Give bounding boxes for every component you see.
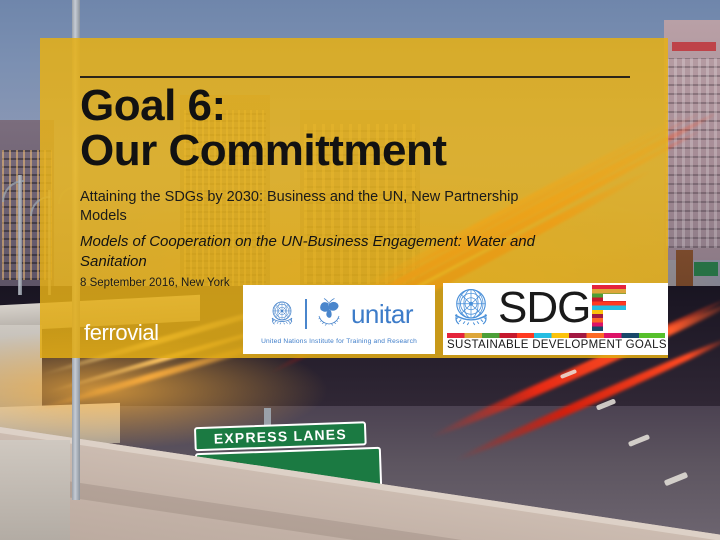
sdg-fund-logo: SDG SUSTAINABLE DEVELOPMENT GOALS FUND xyxy=(443,283,668,355)
title-divider-rule xyxy=(80,76,630,78)
subtitle: Attaining the SDGs by 2030: Business and… xyxy=(80,188,550,227)
slide-canvas: EXPRESS LANES 75 Coit E Goal 6: Our Comm… xyxy=(0,0,720,540)
sdg-fund-tagline: SUSTAINABLE DEVELOPMENT GOALS FUND xyxy=(447,339,668,351)
sdg-colour-bar xyxy=(447,333,665,338)
unitar-logo-row: unitar xyxy=(265,295,413,334)
unitar-logo: unitar United Nations Institute for Trai… xyxy=(243,285,435,354)
subtitle-italic: Models of Cooperation on the UN-Business… xyxy=(80,232,560,273)
light-pole xyxy=(18,175,22,295)
sdg-rainbow-f-icon xyxy=(592,285,626,331)
title-panel-content: Goal 6: Our Committment Attaining the SD… xyxy=(40,38,668,291)
rooftop-sign xyxy=(672,42,716,51)
concrete-wall-left xyxy=(0,440,70,540)
ferrovial-logo: ferrovial xyxy=(84,320,159,346)
building-right-windows xyxy=(666,58,720,248)
title-line-2: Our Committment xyxy=(80,129,628,174)
unitar-butterfly-icon xyxy=(313,295,345,334)
distant-highway-sign xyxy=(694,262,718,276)
un-emblem-icon xyxy=(265,295,299,334)
page-title: Goal 6: Our Committment xyxy=(80,84,628,174)
sdg-wordmark: SDG xyxy=(498,286,590,330)
express-lanes-sign: EXPRESS LANES xyxy=(194,421,367,451)
title-line-1: Goal 6: xyxy=(80,81,226,130)
unitar-tagline: United Nations Institute for Training an… xyxy=(261,338,417,345)
sdg-logo-row: SDG xyxy=(443,283,668,333)
unitar-divider xyxy=(305,299,307,329)
unitar-wordmark: unitar xyxy=(351,301,413,327)
un-emblem-icon xyxy=(447,283,495,335)
